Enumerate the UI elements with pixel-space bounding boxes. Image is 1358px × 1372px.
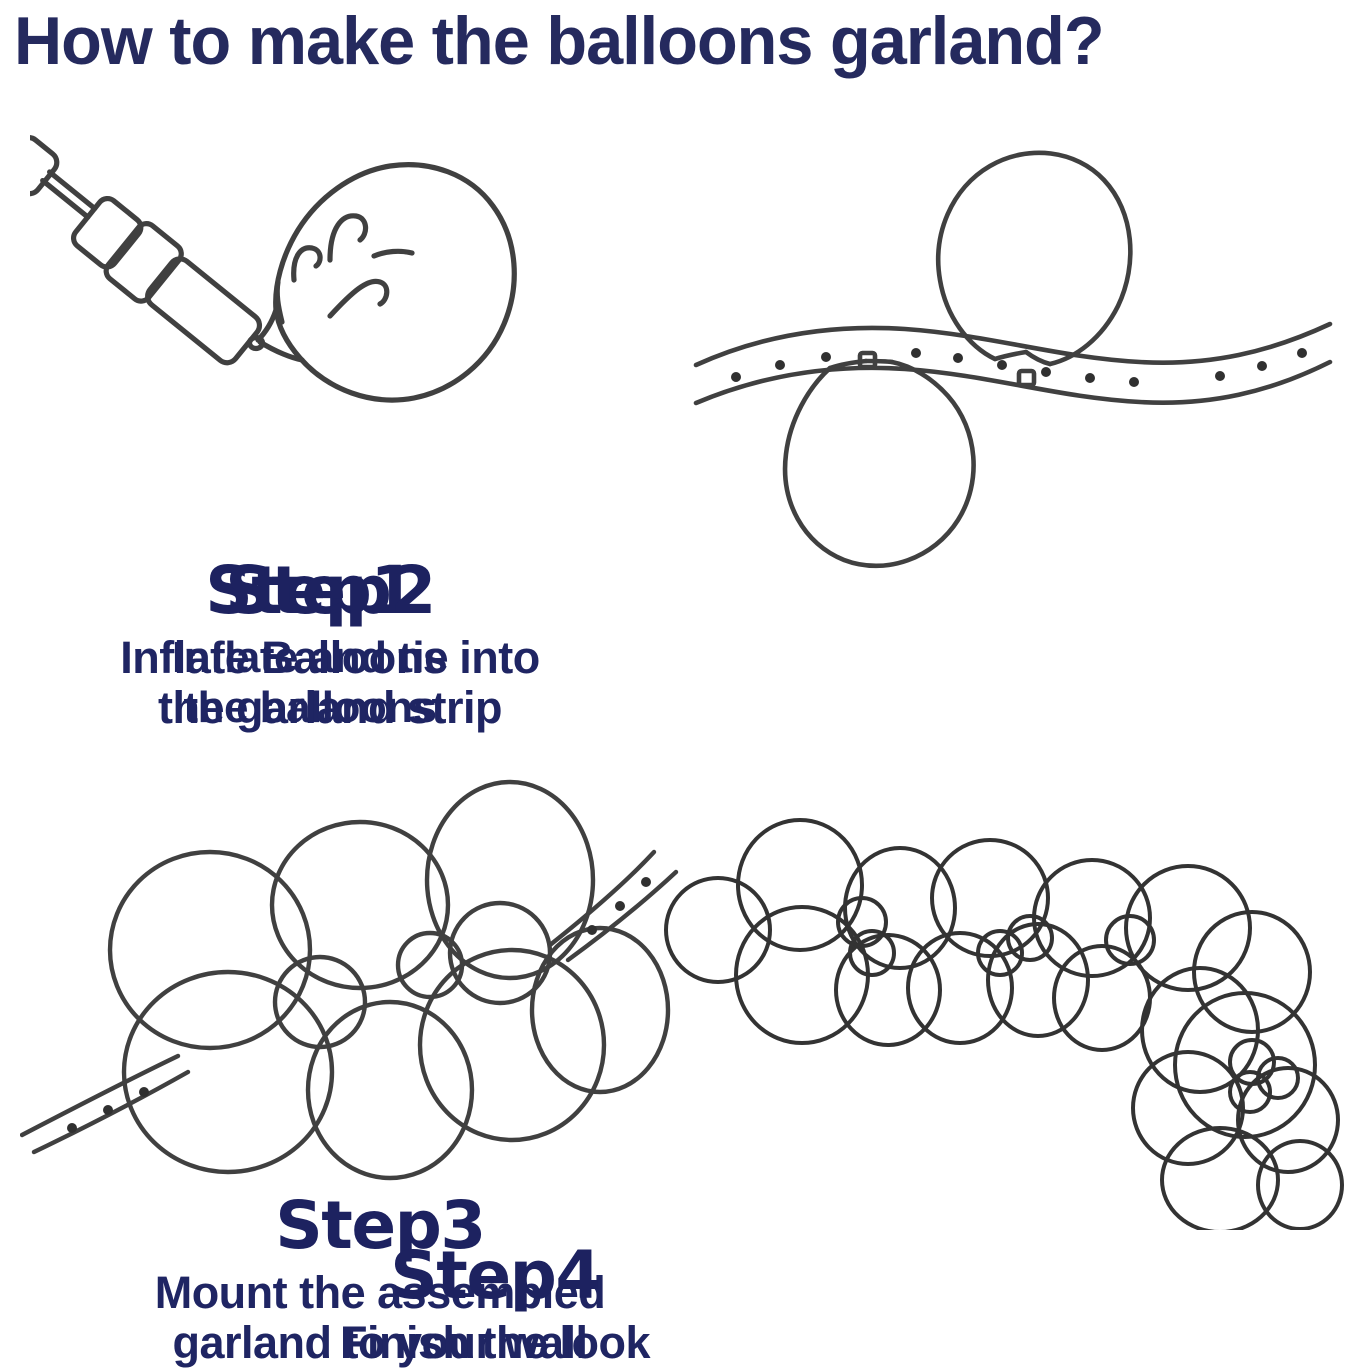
step-2-description: Inflate Balloons into the garland strip	[20, 633, 640, 733]
infographic-page: How to make the balloons garland?	[0, 0, 1358, 1372]
garland-strip-with-balloons-illustration	[690, 110, 1335, 570]
step-2-cell	[690, 110, 1335, 765]
step-2-heading: Step2	[20, 555, 640, 627]
hand-pump-inflating-balloon-illustration	[30, 110, 670, 580]
step-2-caption: Step2 Inflate Balloons into the garland …	[20, 555, 640, 733]
step-4-description: Finish the look	[145, 1318, 845, 1368]
balloon-cluster-illustration	[20, 760, 690, 1190]
step-4-caption: Step4 Finish the look	[145, 1240, 845, 1368]
completed-garland-arch-illustration	[660, 790, 1350, 1230]
step-4-heading: Step4	[145, 1240, 845, 1312]
page-title: How to make the balloons garland?	[14, 2, 1331, 80]
step-4-description-line1: Finish the look	[340, 1317, 650, 1368]
step-2-description-line2: the garland strip	[20, 683, 640, 733]
step-2-description-line1: Inflate Balloons into	[120, 632, 540, 683]
